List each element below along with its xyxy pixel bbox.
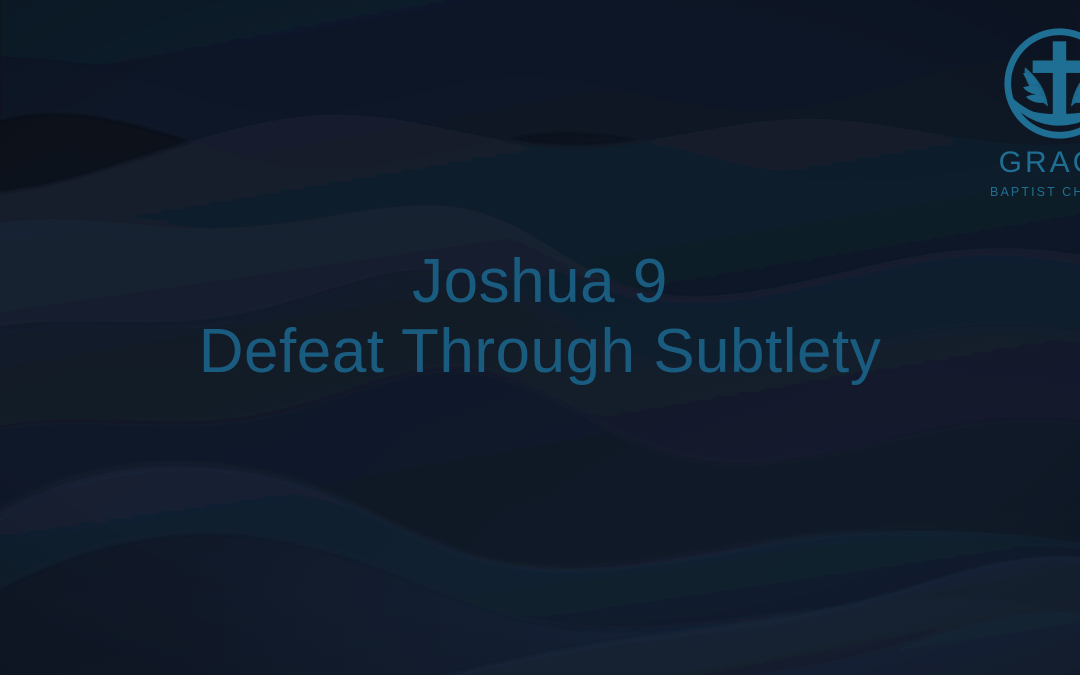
logo-name: GRACE <box>972 148 1080 178</box>
cross-icon <box>1053 41 1066 116</box>
logo-mark <box>1002 26 1080 141</box>
logo-subtitle: BAPTIST CHURCH <box>972 186 1080 199</box>
wheat-branch-left-icon <box>1023 67 1048 106</box>
sermon-title-slide: Joshua 9 Defeat Through Subtlety <box>0 0 1080 675</box>
cross-bar-icon <box>1033 61 1080 73</box>
sermon-title: Joshua 9 Defeat Through Subtlety <box>0 250 1080 385</box>
title-line-1: Joshua 9 <box>0 250 1080 314</box>
wheat-branch-right-icon <box>1071 67 1080 106</box>
title-line-2: Defeat Through Subtlety <box>0 320 1080 384</box>
church-logo: GRACE BAPTIST CHURCH <box>972 18 1080 223</box>
logo-wordmark: GRACE BAPTIST CHURCH <box>972 148 1080 199</box>
